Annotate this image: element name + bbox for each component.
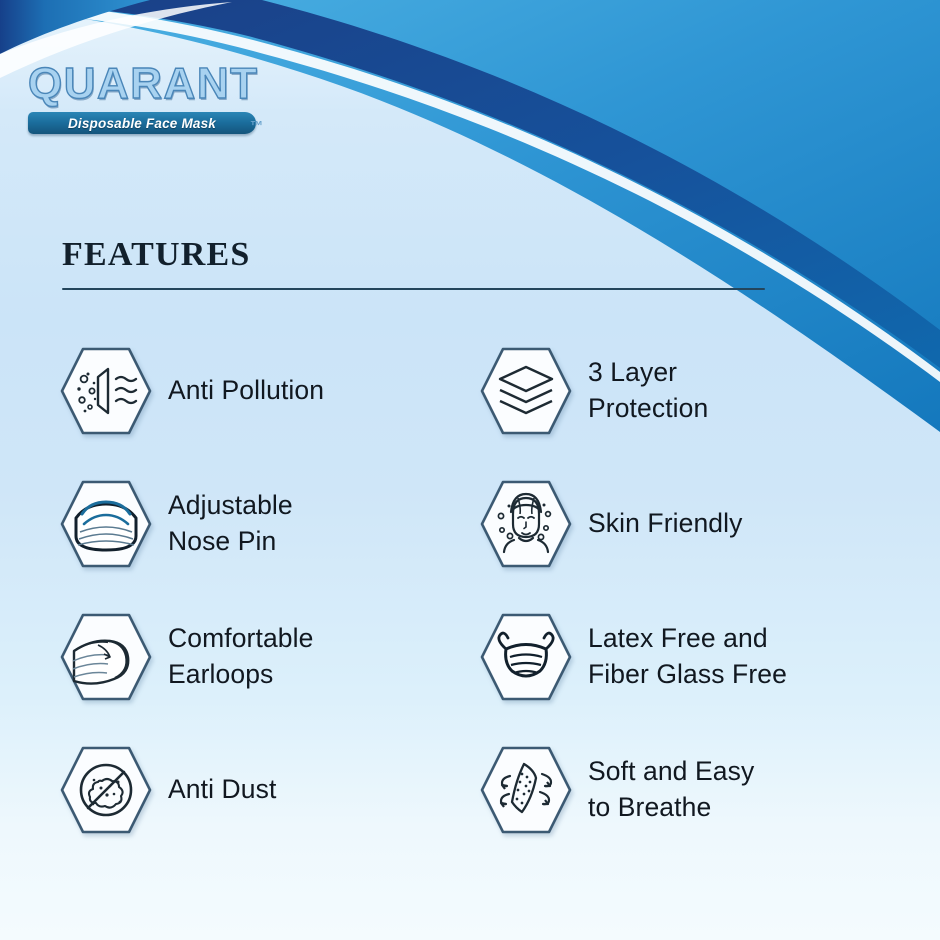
feature-label: Adjustable Nose Pin xyxy=(168,488,293,559)
brand-wordmark: QUARANT xyxy=(28,62,258,106)
anti-dust-icon xyxy=(60,744,152,836)
feature-item: Latex Free and Fiber Glass Free xyxy=(480,590,880,723)
feature-label: Soft and Easy to Breathe xyxy=(588,754,754,825)
heading-divider xyxy=(62,288,765,290)
brand-tagline-banner: Disposable Face Mask xyxy=(28,112,256,134)
face-skin-icon xyxy=(480,478,572,570)
product-feature-poster: QUARANT ™ Disposable Face Mask FEATURES xyxy=(0,0,940,940)
nose-pin-mask-icon xyxy=(60,478,152,570)
brand-logo: QUARANT ™ Disposable Face Mask xyxy=(28,62,328,134)
three-layer-icon xyxy=(480,345,572,437)
page-title: FEATURES xyxy=(62,236,250,274)
feature-item: Anti Dust xyxy=(60,723,480,856)
feature-label: Skin Friendly xyxy=(588,506,742,542)
feature-label: 3 Layer Protection xyxy=(588,355,708,426)
feature-item: Comfortable Earloops xyxy=(60,590,480,723)
earloop-mask-icon xyxy=(60,611,152,703)
feature-label: Latex Free and Fiber Glass Free xyxy=(588,621,787,692)
anti-pollution-icon xyxy=(60,345,152,437)
feature-label: Anti Pollution xyxy=(168,373,324,409)
feature-item: 3 Layer Protection xyxy=(480,324,880,457)
feature-label: Comfortable Earloops xyxy=(168,621,313,692)
feature-item: Skin Friendly xyxy=(480,457,880,590)
airflow-fabric-icon xyxy=(480,744,572,836)
feature-grid: Anti Pollution 3 Layer Protection xyxy=(60,324,880,856)
feature-item: Soft and Easy to Breathe xyxy=(480,723,880,856)
feature-label: Anti Dust xyxy=(168,772,276,808)
feature-item: Anti Pollution xyxy=(60,324,480,457)
trademark-symbol: ™ xyxy=(250,118,263,133)
feature-item: Adjustable Nose Pin xyxy=(60,457,480,590)
brand-tagline-text: Disposable Face Mask xyxy=(68,116,216,131)
front-mask-icon xyxy=(480,611,572,703)
